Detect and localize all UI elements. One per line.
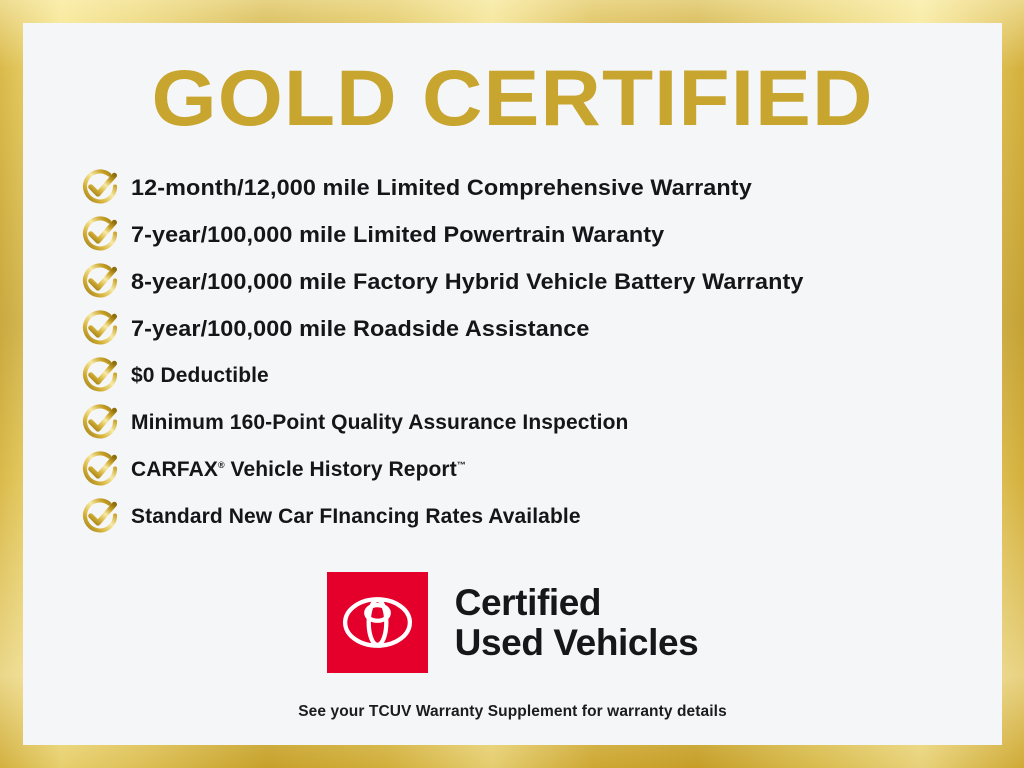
gold-check-circle-icon (78, 259, 122, 303)
list-item-label: Minimum 160-Point Quality Assurance Insp… (131, 411, 628, 435)
gold-check-circle-icon (78, 212, 122, 256)
gold-check-circle-icon (78, 306, 122, 350)
benefits-list: 12-month/12,000 mile Limited Comprehensi… (23, 164, 1002, 540)
toyota-certified-used-vehicles-lockup: Certified Used Vehicles (23, 572, 1002, 673)
list-item-label: 7-year/100,000 mile Limited Powertrain W… (131, 222, 664, 248)
gold-check-circle-icon (78, 400, 122, 444)
gold-check-circle-icon (78, 447, 122, 491)
list-item: 12-month/12,000 mile Limited Comprehensi… (78, 164, 1002, 211)
list-item-label: 8-year/100,000 mile Factory Hybrid Vehic… (131, 269, 803, 295)
page-title: GOLD CERTIFIED (0, 23, 1024, 137)
warranty-disclaimer: See your TCUV Warranty Supplement for wa… (23, 703, 1002, 721)
list-item: 7-year/100,000 mile Roadside Assistance (78, 305, 1002, 352)
list-item: CARFAX® Vehicle History Report™ (78, 446, 1002, 493)
registered-mark: ® (218, 460, 225, 470)
list-item: 8-year/100,000 mile Factory Hybrid Vehic… (78, 258, 1002, 305)
lockup-line-1: Certified (455, 583, 699, 623)
gold-check-circle-icon (78, 494, 122, 538)
carfax-report-label: Vehicle History Report (225, 458, 457, 481)
trademark-mark: ™ (457, 460, 466, 470)
list-item: $0 Deductible (78, 352, 1002, 399)
list-item-label: 7-year/100,000 mile Roadside Assistance (131, 316, 589, 342)
list-item: 7-year/100,000 mile Limited Powertrain W… (78, 211, 1002, 258)
lockup-line-2: Used Vehicles (455, 623, 699, 663)
list-item-label: CARFAX® Vehicle History Report™ (131, 458, 466, 482)
toyota-logo-badge (327, 572, 428, 673)
certified-used-vehicles-text: Certified Used Vehicles (455, 583, 699, 663)
gold-check-circle-icon (78, 165, 122, 209)
list-item: Standard New Car FInancing Rates Availab… (78, 493, 1002, 540)
carfax-label: CARFAX (131, 458, 218, 481)
gold-border-frame: GOLD CERTIFIED (0, 0, 1024, 768)
list-item-label: 12-month/12,000 mile Limited Comprehensi… (131, 175, 752, 201)
list-item-label: $0 Deductible (131, 364, 269, 388)
list-item-label: Standard New Car FInancing Rates Availab… (131, 505, 581, 529)
list-item: Minimum 160-Point Quality Assurance Insp… (78, 399, 1002, 446)
toyota-emblem-icon (336, 581, 419, 664)
certification-card: GOLD CERTIFIED (23, 23, 1002, 745)
gold-check-circle-icon (78, 353, 122, 397)
